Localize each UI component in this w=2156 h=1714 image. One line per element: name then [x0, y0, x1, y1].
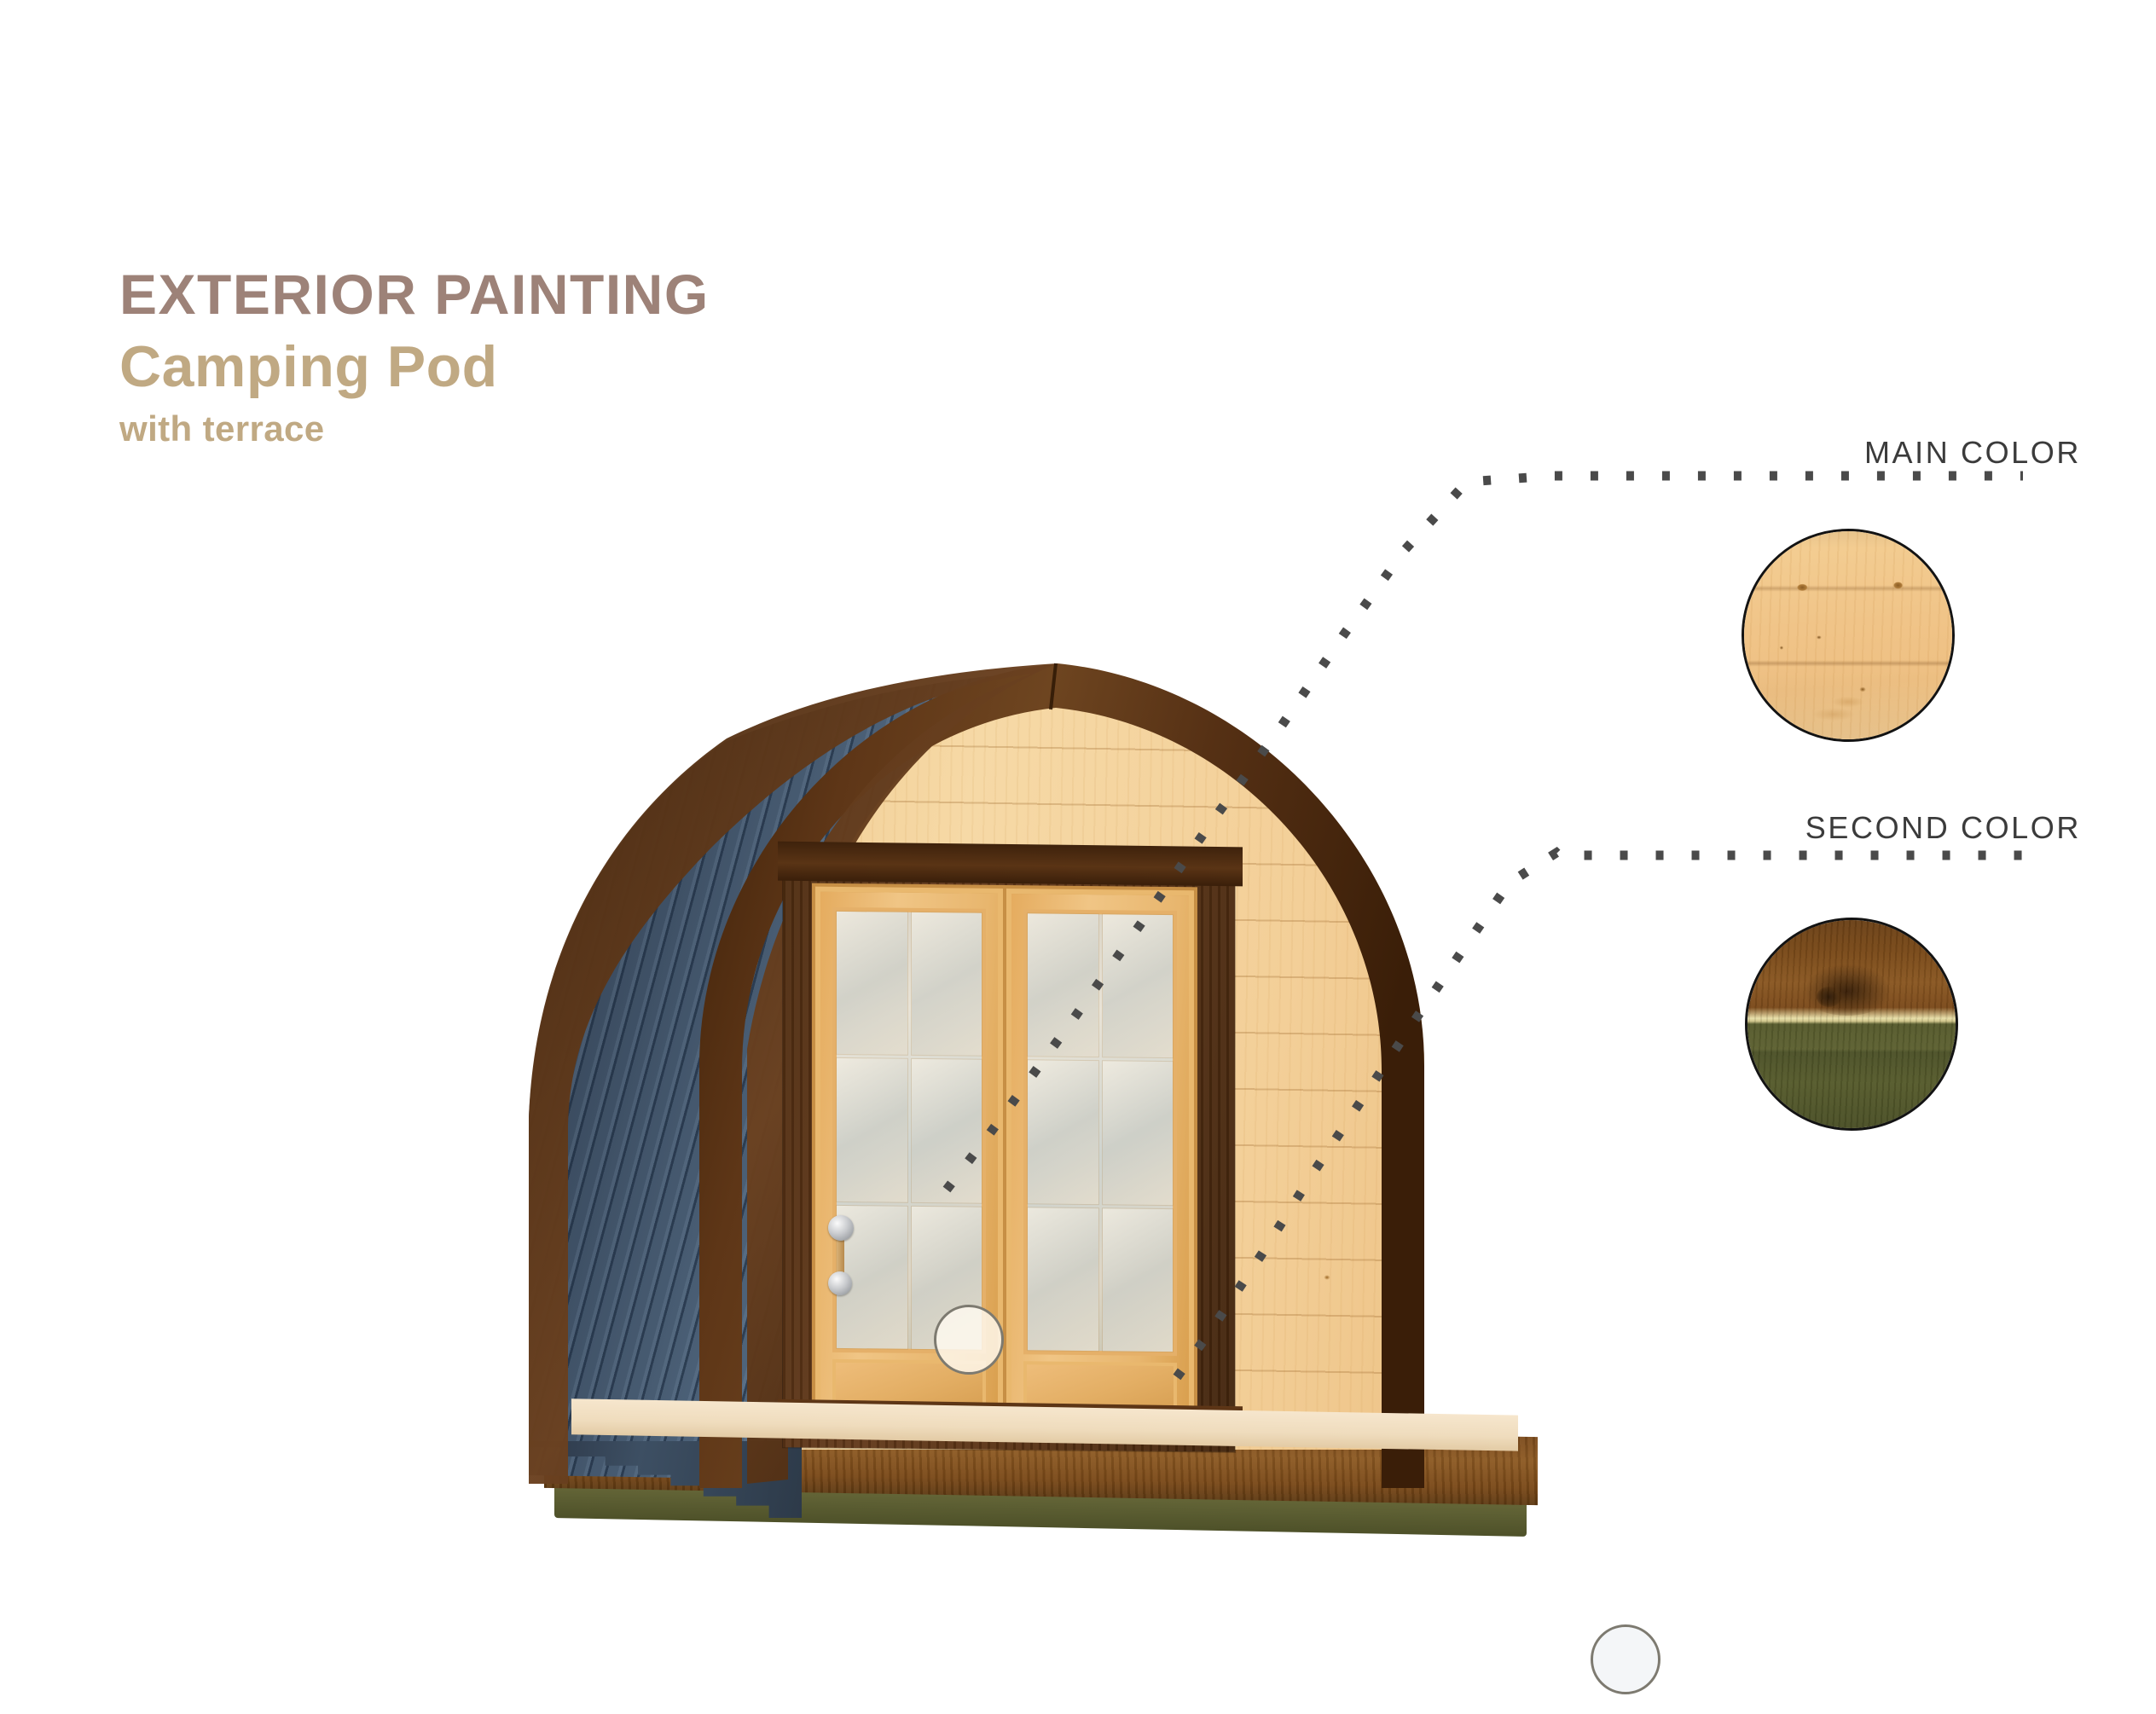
glass-pane — [1028, 1207, 1098, 1351]
main-color-label: MAIN COLOR — [1864, 435, 2081, 471]
title-block: EXTERIOR PAINTING Camping Pod with terra… — [119, 266, 1058, 447]
second-color-swatch-fill — [1747, 920, 1956, 1128]
marker-main-color[interactable] — [934, 1305, 1004, 1375]
glass-pane — [1103, 914, 1174, 1057]
french-doors[interactable] — [812, 883, 1197, 1435]
page-title: EXTERIOR PAINTING — [119, 266, 1058, 322]
glass-pane — [837, 912, 907, 1055]
second-color-swatch[interactable] — [1745, 918, 1958, 1131]
wood-knot — [1801, 962, 1892, 1016]
door-handle-set[interactable] — [824, 1215, 858, 1309]
main-color-swatch[interactable] — [1742, 529, 1955, 742]
wood-knot-small — [1817, 987, 1841, 1007]
glass-pane — [837, 1058, 907, 1202]
product-name: Camping Pod — [119, 338, 1058, 396]
camping-pod-illustration — [443, 588, 1637, 1552]
door-lintel-beam — [778, 842, 1243, 887]
door-leaf-right[interactable] — [1006, 889, 1194, 1431]
door-lock-lower[interactable] — [828, 1271, 852, 1295]
glass-pane — [1028, 913, 1098, 1057]
poster-canvas: EXTERIOR PAINTING Camping Pod with terra… — [0, 0, 2156, 1714]
marker-second-color[interactable] — [1591, 1624, 1660, 1694]
glass-pane — [1103, 1062, 1174, 1205]
product-variant: with terrace — [119, 411, 1058, 447]
main-color-swatch-fill — [1744, 531, 1952, 739]
glass-pane — [1028, 1061, 1098, 1204]
glass-pane — [912, 912, 982, 1056]
door-knob-upper[interactable] — [828, 1215, 854, 1241]
glass-pane — [1103, 1208, 1174, 1352]
door-glazing-right — [1023, 909, 1177, 1356]
second-color-label: SECOND COLOR — [1805, 810, 2081, 846]
glass-pane — [912, 1059, 982, 1202]
